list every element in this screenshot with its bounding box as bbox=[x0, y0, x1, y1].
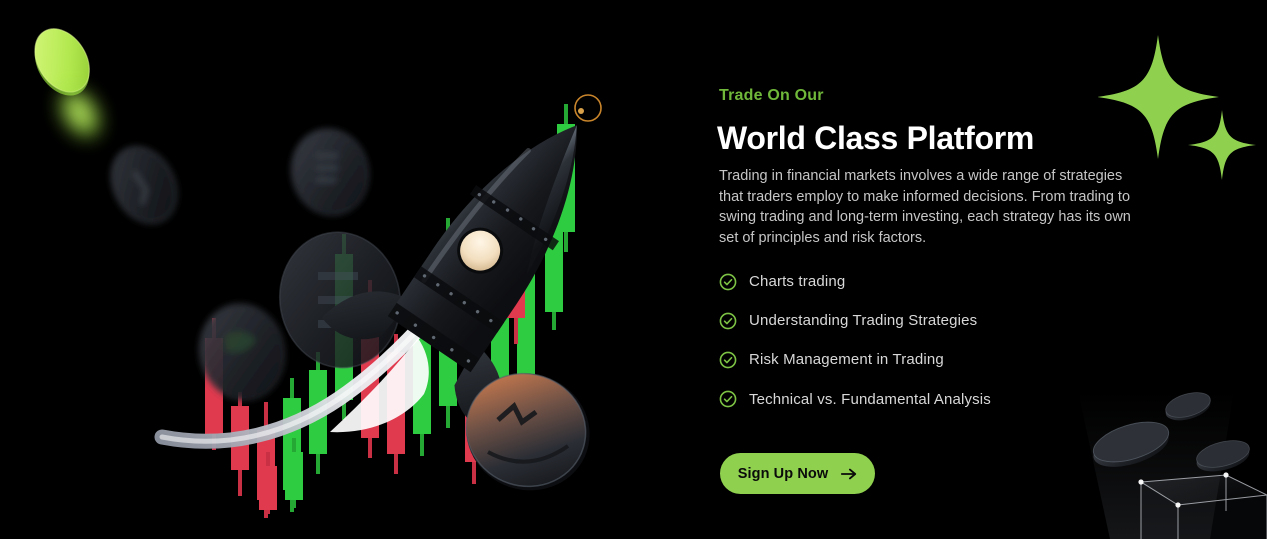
rocket-candlestick-artwork bbox=[0, 0, 660, 539]
hero-section: Trade On Our World Class Platform Tradin… bbox=[0, 0, 1267, 539]
list-item: Understanding Trading Strategies bbox=[719, 301, 1139, 340]
list-item: Charts trading bbox=[719, 262, 1139, 301]
list-item-label: Charts trading bbox=[749, 273, 845, 290]
description-text: Trading in financial markets involves a … bbox=[719, 166, 1139, 248]
check-circle-icon bbox=[719, 312, 737, 330]
list-item: Risk Management in Trading bbox=[719, 340, 1139, 379]
sign-up-button[interactable]: Sign Up Now bbox=[720, 453, 875, 494]
list-item-label: Risk Management in Trading bbox=[749, 351, 944, 368]
eyebrow-text: Trade On Our bbox=[719, 87, 824, 105]
sign-up-button-label: Sign Up Now bbox=[738, 466, 829, 482]
corner-decoration-group bbox=[1038, 385, 1267, 539]
four-point-star-icon bbox=[1098, 35, 1219, 159]
check-circle-icon bbox=[719, 390, 737, 408]
check-circle-icon bbox=[719, 273, 737, 291]
wireframe-cube-icon bbox=[1138, 472, 1267, 539]
list-item-label: Understanding Trading Strategies bbox=[749, 312, 977, 329]
four-point-star-icon bbox=[1188, 110, 1256, 180]
page-title: World Class Platform bbox=[717, 120, 1034, 157]
hero-illustration bbox=[0, 0, 660, 539]
list-item-label: Technical vs. Fundamental Analysis bbox=[749, 391, 991, 408]
check-circle-icon bbox=[719, 351, 737, 369]
arrow-right-icon bbox=[841, 467, 857, 481]
sparkle-decoration-group bbox=[1098, 28, 1267, 183]
